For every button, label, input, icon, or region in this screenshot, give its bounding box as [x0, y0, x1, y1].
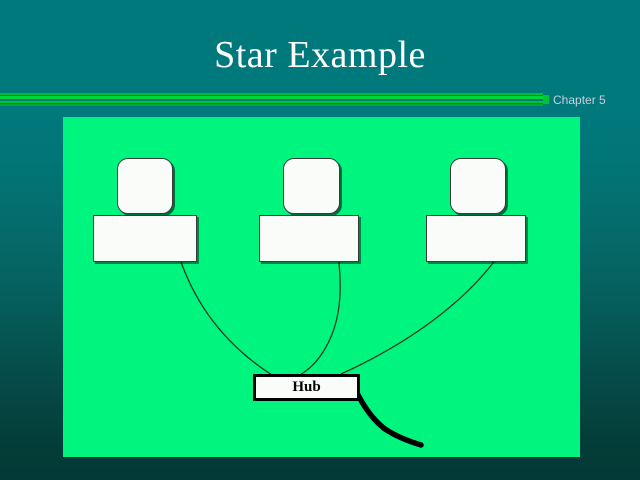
diagram-panel — [63, 117, 580, 457]
hub-label: Hub — [256, 377, 357, 398]
link-left-to-hub — [175, 243, 272, 375]
computer-base-icon — [93, 215, 197, 262]
title-divider — [0, 93, 543, 106]
hub-box: Hub — [253, 374, 360, 401]
link-right-to-hub — [341, 244, 506, 374]
monitor-icon — [450, 158, 506, 214]
divider-line-2 — [0, 96, 543, 99]
page-title: Star Example — [0, 33, 640, 77]
computer-base-icon — [426, 215, 526, 262]
chapter-label: Chapter 5 — [553, 93, 606, 108]
hub-uplink-cable — [351, 381, 421, 445]
link-center-to-hub — [300, 245, 340, 375]
divider-line-1 — [0, 93, 543, 95]
slide: Star Example Chapter 5 — [0, 0, 640, 480]
divider-line-3 — [0, 101, 543, 103]
divider-line-4 — [0, 104, 543, 106]
monitor-icon — [283, 158, 340, 214]
chapter-marker-icon — [543, 95, 549, 104]
computer-base-icon — [259, 215, 359, 262]
monitor-icon — [117, 158, 173, 214]
